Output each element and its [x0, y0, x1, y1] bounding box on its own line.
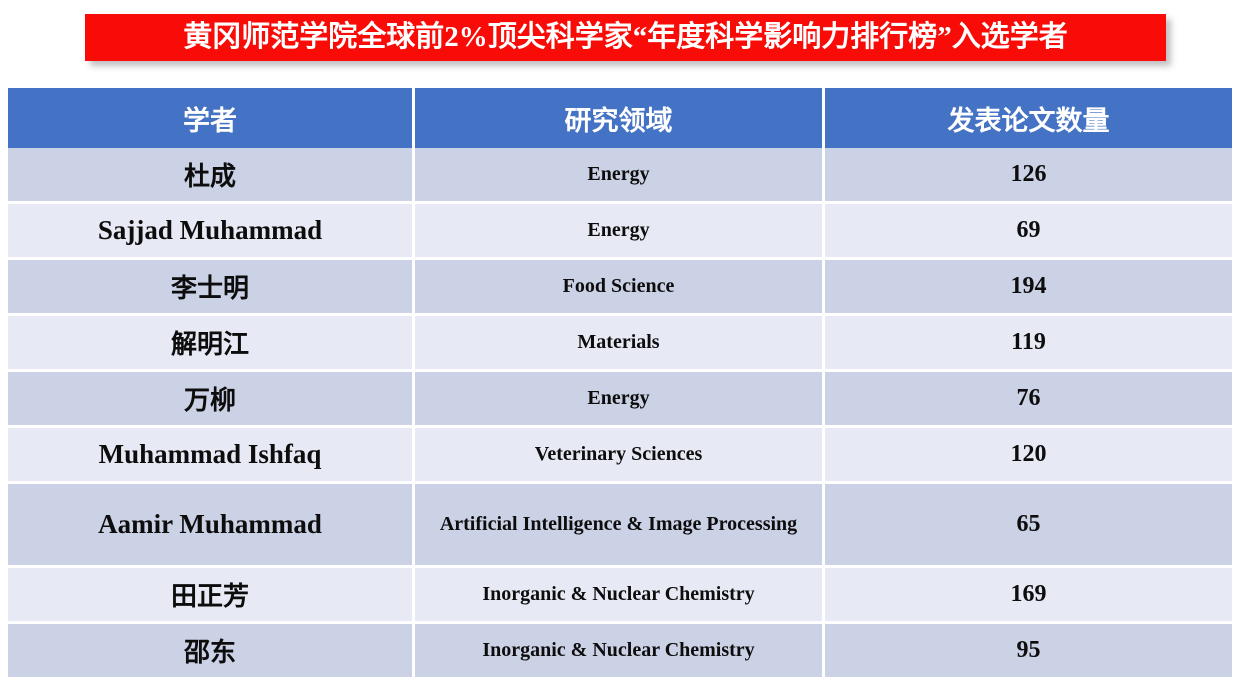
cell-research-field: Artificial Intelligence & Image Processi…	[415, 484, 825, 568]
table-row: 李士明Food Science194	[8, 260, 1232, 316]
cell-paper-count: 76	[825, 372, 1232, 428]
table-row: 解明江Materials119	[8, 316, 1232, 372]
table-row: Aamir MuhammadArtificial Intelligence & …	[8, 484, 1232, 568]
table-header: 学者 研究领域 发表论文数量	[8, 88, 1232, 148]
table-row: Muhammad IshfaqVeterinary Sciences120	[8, 428, 1232, 484]
cell-research-field: Materials	[415, 316, 825, 372]
table-header-row: 学者 研究领域 发表论文数量	[8, 88, 1232, 148]
cell-paper-count: 119	[825, 316, 1232, 372]
table-row: Sajjad MuhammadEnergy69	[8, 204, 1232, 260]
cell-research-field: Food Science	[415, 260, 825, 316]
cell-scholar-name: Sajjad Muhammad	[8, 204, 415, 260]
cell-paper-count: 169	[825, 568, 1232, 624]
cell-paper-count: 120	[825, 428, 1232, 484]
scholar-table: 学者 研究领域 发表论文数量 杜成Energy126Sajjad Muhamma…	[8, 88, 1232, 680]
table-row: 田正芳Inorganic & Nuclear Chemistry169	[8, 568, 1232, 624]
cell-scholar-name: 万柳	[8, 372, 415, 428]
cell-scholar-name: 杜成	[8, 148, 415, 204]
cell-paper-count: 65	[825, 484, 1232, 568]
cell-research-field: Energy	[415, 148, 825, 204]
title-banner: 黄冈师范学院全球前2%顶尖科学家“年度科学影响力排行榜”入选学者	[85, 14, 1166, 61]
column-header-paper-count: 发表论文数量	[825, 88, 1232, 148]
cell-scholar-name: 解明江	[8, 316, 415, 372]
table-row: 杜成Energy126	[8, 148, 1232, 204]
column-header-scholar: 学者	[8, 88, 415, 148]
cell-scholar-name: Muhammad Ishfaq	[8, 428, 415, 484]
cell-scholar-name: Aamir Muhammad	[8, 484, 415, 568]
cell-paper-count: 69	[825, 204, 1232, 260]
cell-paper-count: 194	[825, 260, 1232, 316]
cell-research-field: Inorganic & Nuclear Chemistry	[415, 568, 825, 624]
cell-paper-count: 126	[825, 148, 1232, 204]
cell-research-field: Energy	[415, 372, 825, 428]
table-row: 万柳Energy76	[8, 372, 1232, 428]
column-header-research-field: 研究领域	[415, 88, 825, 148]
table-body: 杜成Energy126Sajjad MuhammadEnergy69李士明Foo…	[8, 148, 1232, 680]
cell-scholar-name: 李士明	[8, 260, 415, 316]
title-banner-container: 黄冈师范学院全球前2%顶尖科学家“年度科学影响力排行榜”入选学者	[0, 0, 1237, 85]
cell-research-field: Energy	[415, 204, 825, 260]
page-title: 黄冈师范学院全球前2%顶尖科学家“年度科学影响力排行榜”入选学者	[183, 23, 1068, 52]
cell-scholar-name: 田正芳	[8, 568, 415, 624]
cell-research-field: Veterinary Sciences	[415, 428, 825, 484]
